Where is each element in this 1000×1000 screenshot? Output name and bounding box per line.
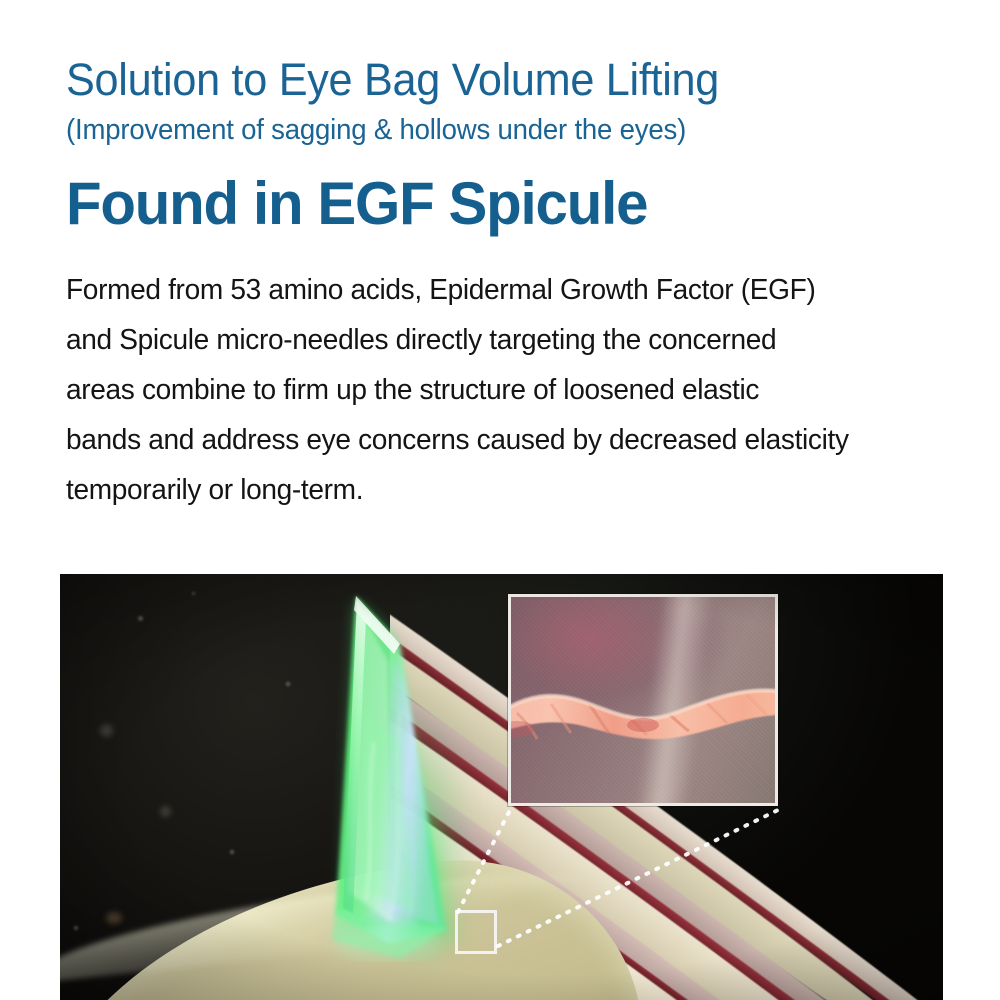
article-text-block: Solution to Eye Bag Volume Lifting (Impr… xyxy=(66,56,956,515)
body-line: temporarily or long-term. xyxy=(66,465,953,515)
dust-mote xyxy=(230,850,234,854)
dust-mote xyxy=(74,926,78,930)
body-paragraph: Formed from 53 amino acids, Epidermal Gr… xyxy=(66,265,953,515)
body-line: bands and address eye concerns caused by… xyxy=(66,415,953,465)
body-line: areas combine to firm up the structure o… xyxy=(66,365,953,415)
magnified-inset xyxy=(508,594,778,806)
page-subtitle: (Improvement of sagging & hollows under … xyxy=(66,115,912,147)
dust-mote xyxy=(192,592,195,595)
page-title: Solution to Eye Bag Volume Lifting xyxy=(66,56,920,105)
spicule-shape xyxy=(296,592,536,962)
spicule-needle xyxy=(296,592,536,962)
inset-texture-grain xyxy=(511,597,775,803)
body-line: Formed from 53 amino acids, Epidermal Gr… xyxy=(66,265,953,315)
detail-marker-square xyxy=(455,910,497,954)
dust-mote xyxy=(286,682,290,686)
dust-mote xyxy=(106,912,122,924)
section-heading: Found in EGF Spicule xyxy=(66,172,929,235)
dust-mote xyxy=(100,724,113,737)
body-line: and Spicule micro-needles directly targe… xyxy=(66,315,953,365)
dust-mote xyxy=(138,616,143,621)
dust-mote xyxy=(160,806,171,817)
figure-image xyxy=(60,574,943,1000)
page-root: Solution to Eye Bag Volume Lifting (Impr… xyxy=(0,0,1000,1000)
